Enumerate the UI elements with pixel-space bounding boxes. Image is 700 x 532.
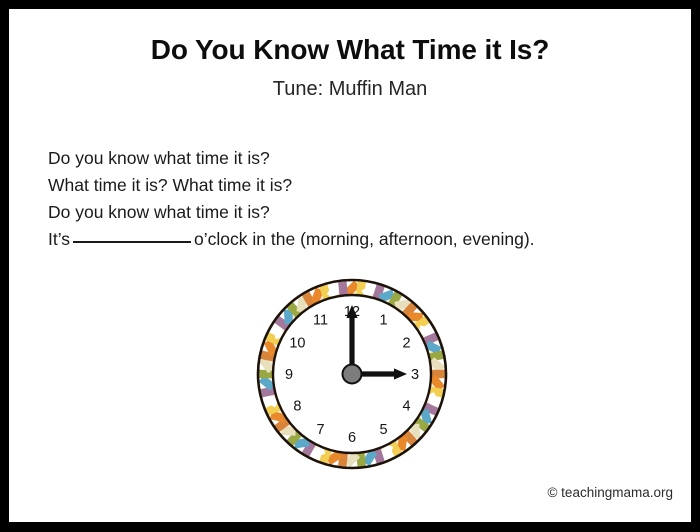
clock-numeral-1: 1 — [379, 313, 387, 329]
page-subtitle: Tune: Muffin Man — [9, 78, 691, 101]
lyric-line-4-suffix: o’clock in the (morning, afternoon, even… — [194, 229, 534, 249]
clock-numeral-10: 10 — [289, 336, 305, 352]
clock-numeral-8: 8 — [293, 399, 301, 415]
clock-numeral-9: 9 — [285, 367, 293, 383]
lyric-line-4-prefix: It’s — [48, 229, 70, 249]
lyric-line-3: Do you know what time it is? — [48, 199, 658, 226]
clock-numeral-6: 6 — [348, 430, 356, 446]
slide-page: Do You Know What Time it Is? Tune: Muffi… — [9, 9, 691, 522]
clock-numeral-5: 5 — [379, 422, 387, 438]
clock-numeral-3: 3 — [411, 367, 419, 383]
clock-numeral-4: 4 — [403, 399, 411, 415]
clock-center-hub — [343, 365, 362, 384]
credit-text: © teachingmama.org — [547, 485, 673, 500]
slide-border: Do You Know What Time it Is? Tune: Muffi… — [0, 0, 700, 532]
page-title: Do You Know What Time it Is? — [9, 34, 691, 66]
lyrics-block: Do you know what time it is? What time i… — [48, 145, 658, 253]
fill-in-blank — [73, 227, 191, 243]
clock-illustration: 121234567891011 — [252, 274, 452, 474]
clock-numeral-11: 11 — [313, 313, 328, 329]
lyric-line-4: It’so’clock in the (morning, afternoon, … — [48, 226, 658, 253]
clock-numeral-2: 2 — [403, 336, 411, 352]
lyric-line-2: What time it is? What time it is? — [48, 172, 658, 199]
clock-svg: 121234567891011 — [252, 274, 452, 474]
clock-numeral-7: 7 — [316, 422, 324, 438]
lyric-line-1: Do you know what time it is? — [48, 145, 658, 172]
